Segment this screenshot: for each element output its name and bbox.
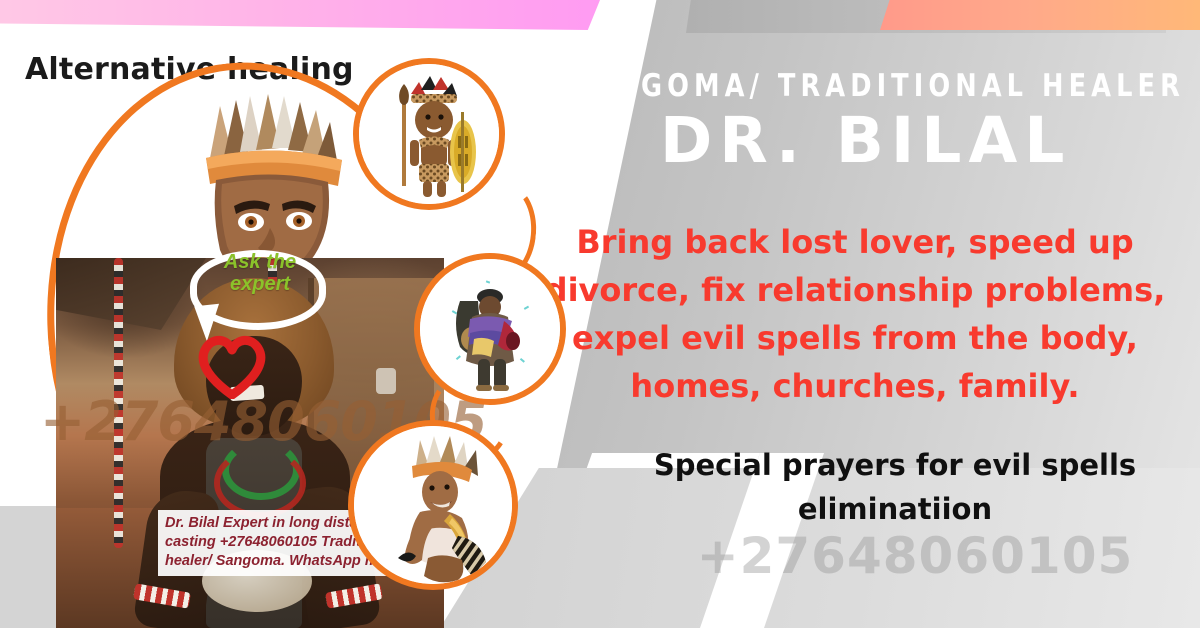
top-orange-ribbon bbox=[880, 0, 1200, 30]
eyebrow-title: SANGOMA/ TRADITIONAL HEALER bbox=[566, 68, 1127, 104]
circle-badge-robed-healer-figure bbox=[414, 253, 566, 405]
special-prayers-text: Special prayers for evil spells eliminat… bbox=[600, 443, 1190, 531]
speech-bubble-line-1: Ask the bbox=[202, 251, 318, 273]
phone-watermark: +27648060105 bbox=[630, 527, 1200, 585]
top-pink-ribbon bbox=[0, 0, 600, 30]
poster-canvas: Alternative healing bbox=[0, 0, 1200, 628]
services-text: Bring back lost lover, speed up divorce,… bbox=[540, 218, 1170, 410]
speech-bubble-text: Ask the expert bbox=[202, 251, 318, 295]
speech-bubble-line-2: expert bbox=[202, 273, 318, 295]
circle-badge-zulu-warrior-cartoon bbox=[353, 58, 505, 210]
heart-icon bbox=[196, 331, 268, 399]
circle-badge-crouching-warrior-figure bbox=[348, 420, 518, 590]
healer-name: DR. BILAL bbox=[660, 106, 1200, 176]
red-necklace bbox=[214, 448, 306, 518]
